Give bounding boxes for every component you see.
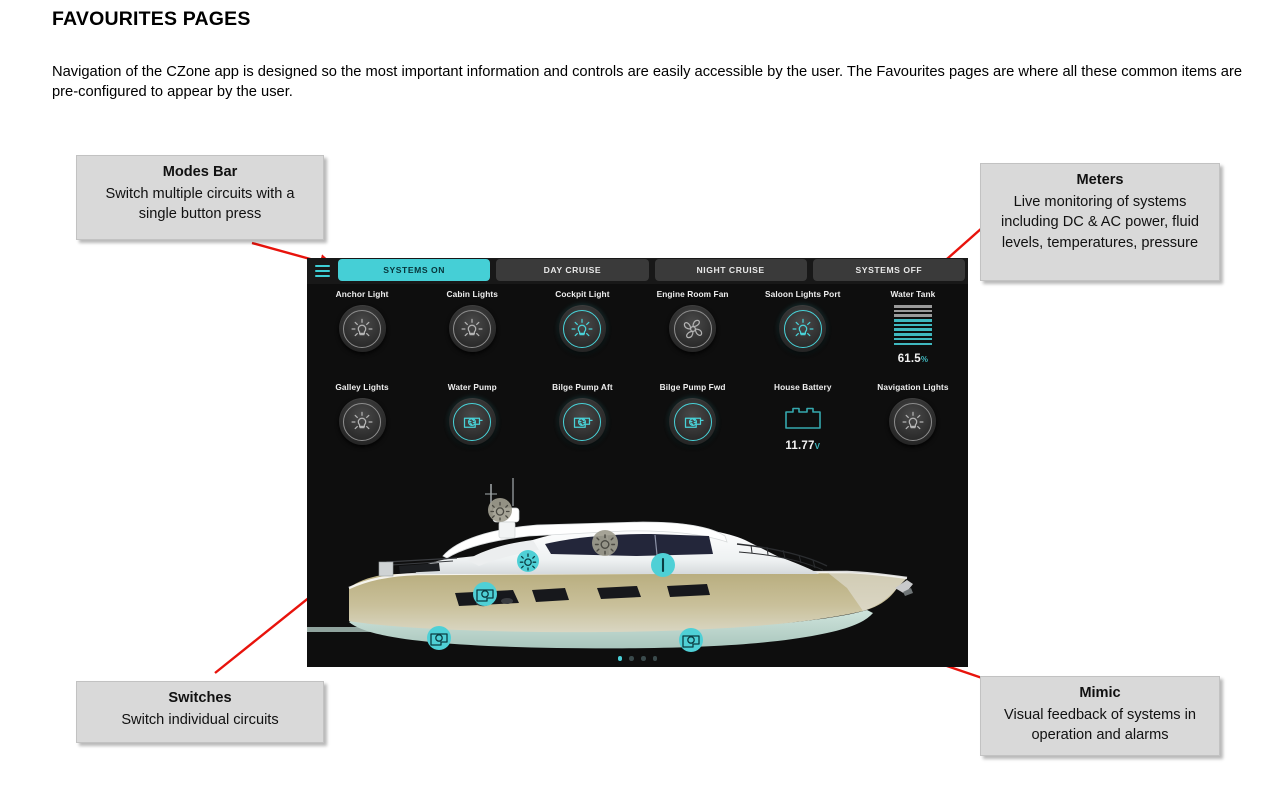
callout-body: Switch individual circuits: [85, 710, 315, 731]
light-bulb-icon[interactable]: [339, 398, 386, 445]
mimic-badge-light-off-1[interactable]: [488, 498, 512, 522]
meter-unit: %: [921, 355, 928, 364]
meter-water-tank[interactable]: Water Tank61.5%: [858, 286, 968, 379]
callout-modes-bar: Modes Bar Switch multiple circuits with …: [76, 155, 324, 240]
mimic-badge-pump-on-2[interactable]: [427, 626, 451, 650]
callout-body: Switch multiple circuits with a single b…: [85, 184, 315, 225]
page-dot[interactable]: [641, 656, 646, 661]
page-dot[interactable]: [629, 656, 634, 661]
modes-bar: SYSTEMS ON DAY CRUISE NIGHT CRUISE SYSTE…: [307, 258, 968, 284]
favourite-label: Bilge Pump Aft: [552, 382, 613, 392]
callout-body: Visual feedback of systems in operation …: [989, 705, 1211, 746]
callout-title: Switches: [85, 688, 315, 709]
mimic-badge-indicator-on[interactable]: [651, 553, 675, 577]
mimic-badge-pump-on-3[interactable]: [679, 628, 703, 652]
callout-body: Live monitoring of systems including DC …: [989, 192, 1211, 254]
favourite-label: Water Pump: [448, 382, 497, 392]
meter-house-battery[interactable]: House Battery11.77V: [748, 379, 858, 472]
page-dot[interactable]: [653, 656, 658, 661]
page-title: FAVOURITES PAGES: [52, 8, 251, 31]
switch-bilge-pump-fwd[interactable]: Bilge Pump Fwd: [638, 379, 748, 472]
mode-button-systems-off[interactable]: SYSTEMS OFF: [813, 259, 965, 281]
mimic-badge-layer: [307, 470, 968, 667]
light-bulb-icon[interactable]: [779, 305, 826, 352]
meter-value: 11.77V: [785, 440, 820, 452]
callout-title: Meters: [989, 170, 1211, 191]
pump-icon[interactable]: [669, 398, 716, 445]
light-bulb-icon[interactable]: [449, 305, 496, 352]
pump-icon[interactable]: [449, 398, 496, 445]
switch-engine-room-fan[interactable]: Engine Room Fan: [638, 286, 748, 379]
favourite-label: House Battery: [774, 382, 832, 392]
mimic-badge-pump-on-1[interactable]: [473, 582, 497, 606]
callout-switches: Switches Switch individual circuits: [76, 681, 324, 743]
meter-value: 61.5%: [898, 353, 929, 365]
switch-cabin-lights[interactable]: Cabin Lights: [417, 286, 527, 379]
light-bulb-icon[interactable]: [889, 398, 936, 445]
page-indicator-dots[interactable]: [307, 656, 968, 661]
callout-mimic: Mimic Visual feedback of systems in oper…: [980, 676, 1220, 756]
tank-level-gauge: [894, 305, 932, 347]
favourites-grid: Anchor LightCabin LightsCockpit LightEng…: [307, 286, 968, 472]
favourite-label: Bilge Pump Fwd: [660, 382, 726, 392]
favourite-label: Anchor Light: [336, 289, 389, 299]
mimic-badge-light-on[interactable]: [517, 550, 539, 572]
page-dot[interactable]: [618, 656, 623, 661]
czone-app-screen: SYSTEMS ON DAY CRUISE NIGHT CRUISE SYSTE…: [307, 258, 968, 667]
intro-paragraph: Navigation of the CZone app is designed …: [52, 62, 1267, 102]
mimic-badge-light-off-2[interactable]: [592, 530, 618, 556]
favourite-label: Water Tank: [891, 289, 936, 299]
pump-icon[interactable]: [559, 398, 606, 445]
favourite-label: Engine Room Fan: [657, 289, 729, 299]
switch-galley-lights[interactable]: Galley Lights: [307, 379, 417, 472]
favourite-label: Cabin Lights: [447, 289, 498, 299]
callout-title: Modes Bar: [85, 162, 315, 183]
favourite-label: Navigation Lights: [877, 382, 948, 392]
mode-button-day-cruise[interactable]: DAY CRUISE: [496, 259, 648, 281]
switch-bilge-pump-aft[interactable]: Bilge Pump Aft: [527, 379, 637, 472]
switch-cockpit-light[interactable]: Cockpit Light: [527, 286, 637, 379]
switch-saloon-lights-port[interactable]: Saloon Lights Port: [748, 286, 858, 379]
light-bulb-icon[interactable]: [339, 305, 386, 352]
favourite-label: Galley Lights: [335, 382, 388, 392]
switch-anchor-light[interactable]: Anchor Light: [307, 286, 417, 379]
favourites-row-1: Anchor LightCabin LightsCockpit LightEng…: [307, 286, 968, 379]
switch-navigation-lights[interactable]: Navigation Lights: [858, 379, 968, 472]
boat-side-profile-mimic[interactable]: <:-- gold hull -->: [307, 470, 968, 667]
mode-button-systems-on[interactable]: SYSTEMS ON: [338, 259, 490, 281]
meter-unit: V: [815, 442, 821, 451]
battery-icon: [782, 404, 824, 434]
callout-meters: Meters Live monitoring of systems includ…: [980, 163, 1220, 281]
favourite-label: Saloon Lights Port: [765, 289, 841, 299]
switch-water-pump[interactable]: Water Pump: [417, 379, 527, 472]
callout-title: Mimic: [989, 683, 1211, 704]
hamburger-menu-icon[interactable]: [307, 258, 335, 284]
favourite-label: Cockpit Light: [555, 289, 609, 299]
favourites-row-2: Galley LightsWater PumpBilge Pump AftBil…: [307, 379, 968, 472]
fan-icon[interactable]: [669, 305, 716, 352]
light-bulb-icon[interactable]: [559, 305, 606, 352]
mode-button-night-cruise[interactable]: NIGHT CRUISE: [655, 259, 807, 281]
